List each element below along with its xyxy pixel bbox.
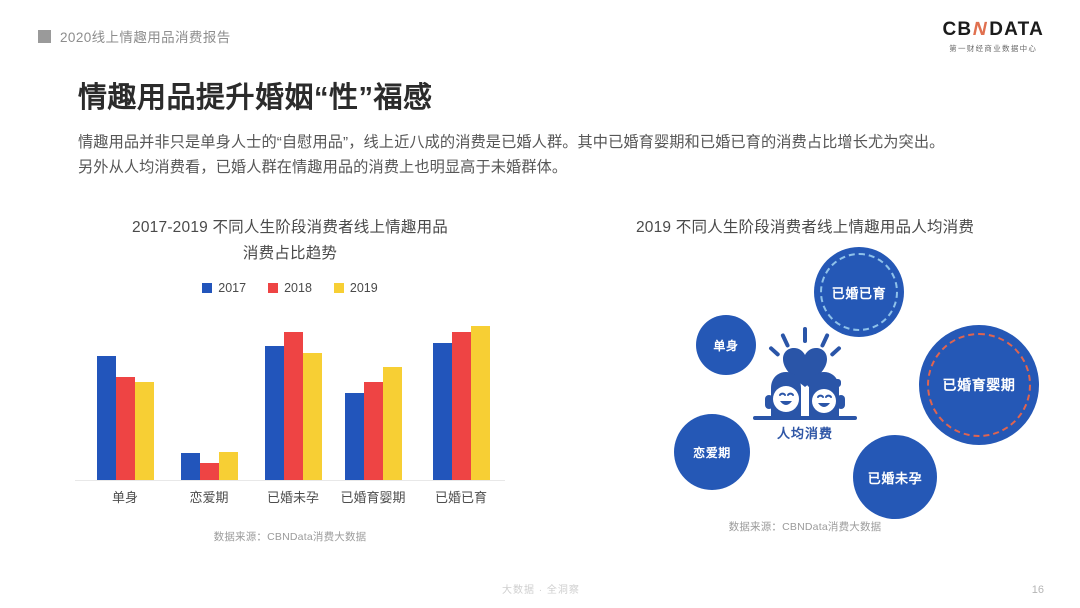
bar-chart-x-axis-labels: 单身恋爱期已婚未孕已婚育婴期已婚已育 bbox=[75, 487, 505, 513]
right-chart-panel: 2019 不同人生阶段消费者线上情趣用品人均消费 bbox=[560, 215, 1050, 534]
bar-chart-plot bbox=[75, 321, 505, 481]
footer-tagline: 大数据 · 全洞察 bbox=[502, 581, 580, 596]
legend-swatch-icon bbox=[202, 283, 212, 293]
bubble-已婚未孕: 已婚未孕 bbox=[853, 435, 937, 519]
bar-已婚未孕-2019 bbox=[303, 353, 322, 480]
bar-group-单身 bbox=[95, 320, 155, 480]
slide: 2020线上情趣用品消费报告 CBNDATA 第一财经商业数据中心 情趣用品提升… bbox=[0, 0, 1080, 608]
bubble-label: 单身 bbox=[713, 337, 738, 354]
left-chart-title: 2017-2019 不同人生阶段消费者线上情趣用品 消费占比趋势 bbox=[40, 215, 540, 267]
bubble-单身: 单身 bbox=[696, 315, 756, 375]
bubble-恋爱期: 恋爱期 bbox=[674, 414, 750, 490]
bubble-label: 已婚未孕 bbox=[868, 468, 922, 487]
left-chart-title-line2: 消费占比趋势 bbox=[40, 241, 540, 267]
kicker-label: 2020线上情趣用品消费报告 bbox=[60, 26, 231, 46]
bubble-label: 已婚育婴期 bbox=[943, 375, 1016, 395]
logo-text-left: CB bbox=[942, 20, 972, 39]
bubble-label: 恋爱期 bbox=[693, 444, 731, 461]
logo-text-right: DATA bbox=[989, 20, 1044, 39]
bubble-label: 已婚已育 bbox=[832, 283, 886, 302]
page-title: 情趣用品提升婚姻“性”福感 bbox=[78, 74, 433, 116]
bar-group-已婚育婴期 bbox=[343, 320, 403, 480]
logo-subtitle: 第一财经商业数据中心 bbox=[942, 43, 1044, 54]
couple-heart-icon bbox=[745, 325, 865, 430]
bar-group-已婚未孕 bbox=[263, 320, 323, 480]
bar-已婚已育-2017 bbox=[433, 343, 452, 480]
right-chart-source: 数据来源：CBNData消费大数据 bbox=[560, 519, 1050, 534]
legend-item-2018: 2018 bbox=[268, 281, 312, 295]
page-number: 16 bbox=[1032, 584, 1044, 596]
bar-已婚育婴期-2017 bbox=[345, 393, 364, 480]
bubble-已婚已育: 已婚已育 bbox=[814, 247, 904, 337]
bar-单身-2017 bbox=[97, 356, 116, 480]
bar-恋爱期-2019 bbox=[219, 452, 238, 480]
bar-单身-2019 bbox=[135, 382, 154, 480]
left-chart-title-line1: 2017-2019 不同人生阶段消费者线上情趣用品 bbox=[40, 215, 540, 241]
kicker-square-icon bbox=[38, 30, 51, 43]
bar-已婚未孕-2017 bbox=[265, 346, 284, 480]
cbndata-logo: CBNDATA 第一财经商业数据中心 bbox=[942, 20, 1044, 54]
bar-chart-axis bbox=[75, 480, 505, 481]
left-chart-source: 数据来源：CBNData消费大数据 bbox=[40, 529, 540, 544]
bar-恋爱期-2018 bbox=[200, 463, 219, 480]
x-axis-label-已婚已育: 已婚已育 bbox=[435, 487, 487, 506]
logo-accent-n: N bbox=[970, 20, 991, 39]
legend-item-2019: 2019 bbox=[334, 281, 378, 295]
right-chart-title: 2019 不同人生阶段消费者线上情趣用品人均消费 bbox=[560, 215, 1050, 241]
legend-swatch-icon bbox=[268, 283, 278, 293]
legend-label: 2018 bbox=[284, 281, 312, 295]
bar-已婚已育-2019 bbox=[471, 326, 490, 480]
bubble-chart-plot: 人均消费 单身已婚已育恋爱期已婚未孕已婚育婴期 bbox=[595, 257, 1015, 507]
legend-label: 2019 bbox=[350, 281, 378, 295]
bar-group-恋爱期 bbox=[179, 320, 239, 480]
x-axis-label-已婚育婴期: 已婚育婴期 bbox=[340, 487, 405, 506]
bar-已婚育婴期-2019 bbox=[383, 367, 402, 480]
bar-恋爱期-2017 bbox=[181, 453, 200, 480]
logo-wordmark: CBNDATA bbox=[942, 20, 1044, 39]
bar-chart-legend: 201720182019 bbox=[40, 281, 540, 295]
bar-已婚未孕-2018 bbox=[284, 332, 303, 480]
page-summary: 情趣用品并非只是单身人士的“自慰用品”，线上近八成的消费是已婚人群。其中已婚育婴… bbox=[78, 130, 958, 180]
bubble-已婚育婴期: 已婚育婴期 bbox=[919, 325, 1039, 445]
left-chart-panel: 2017-2019 不同人生阶段消费者线上情趣用品 消费占比趋势 2017201… bbox=[40, 215, 540, 544]
bubble-center-caption: 人均消费 bbox=[745, 423, 865, 442]
bar-已婚育婴期-2018 bbox=[364, 382, 383, 480]
legend-swatch-icon bbox=[334, 283, 344, 293]
legend-item-2017: 2017 bbox=[202, 281, 246, 295]
bar-已婚已育-2018 bbox=[452, 332, 471, 480]
slide-kicker: 2020线上情趣用品消费报告 bbox=[38, 26, 231, 46]
x-axis-label-恋爱期: 恋爱期 bbox=[189, 487, 228, 506]
bar-group-已婚已育 bbox=[431, 320, 491, 480]
x-axis-label-单身: 单身 bbox=[112, 487, 138, 506]
bar-单身-2018 bbox=[116, 377, 135, 480]
x-axis-label-已婚未孕: 已婚未孕 bbox=[267, 487, 319, 506]
legend-label: 2017 bbox=[218, 281, 246, 295]
